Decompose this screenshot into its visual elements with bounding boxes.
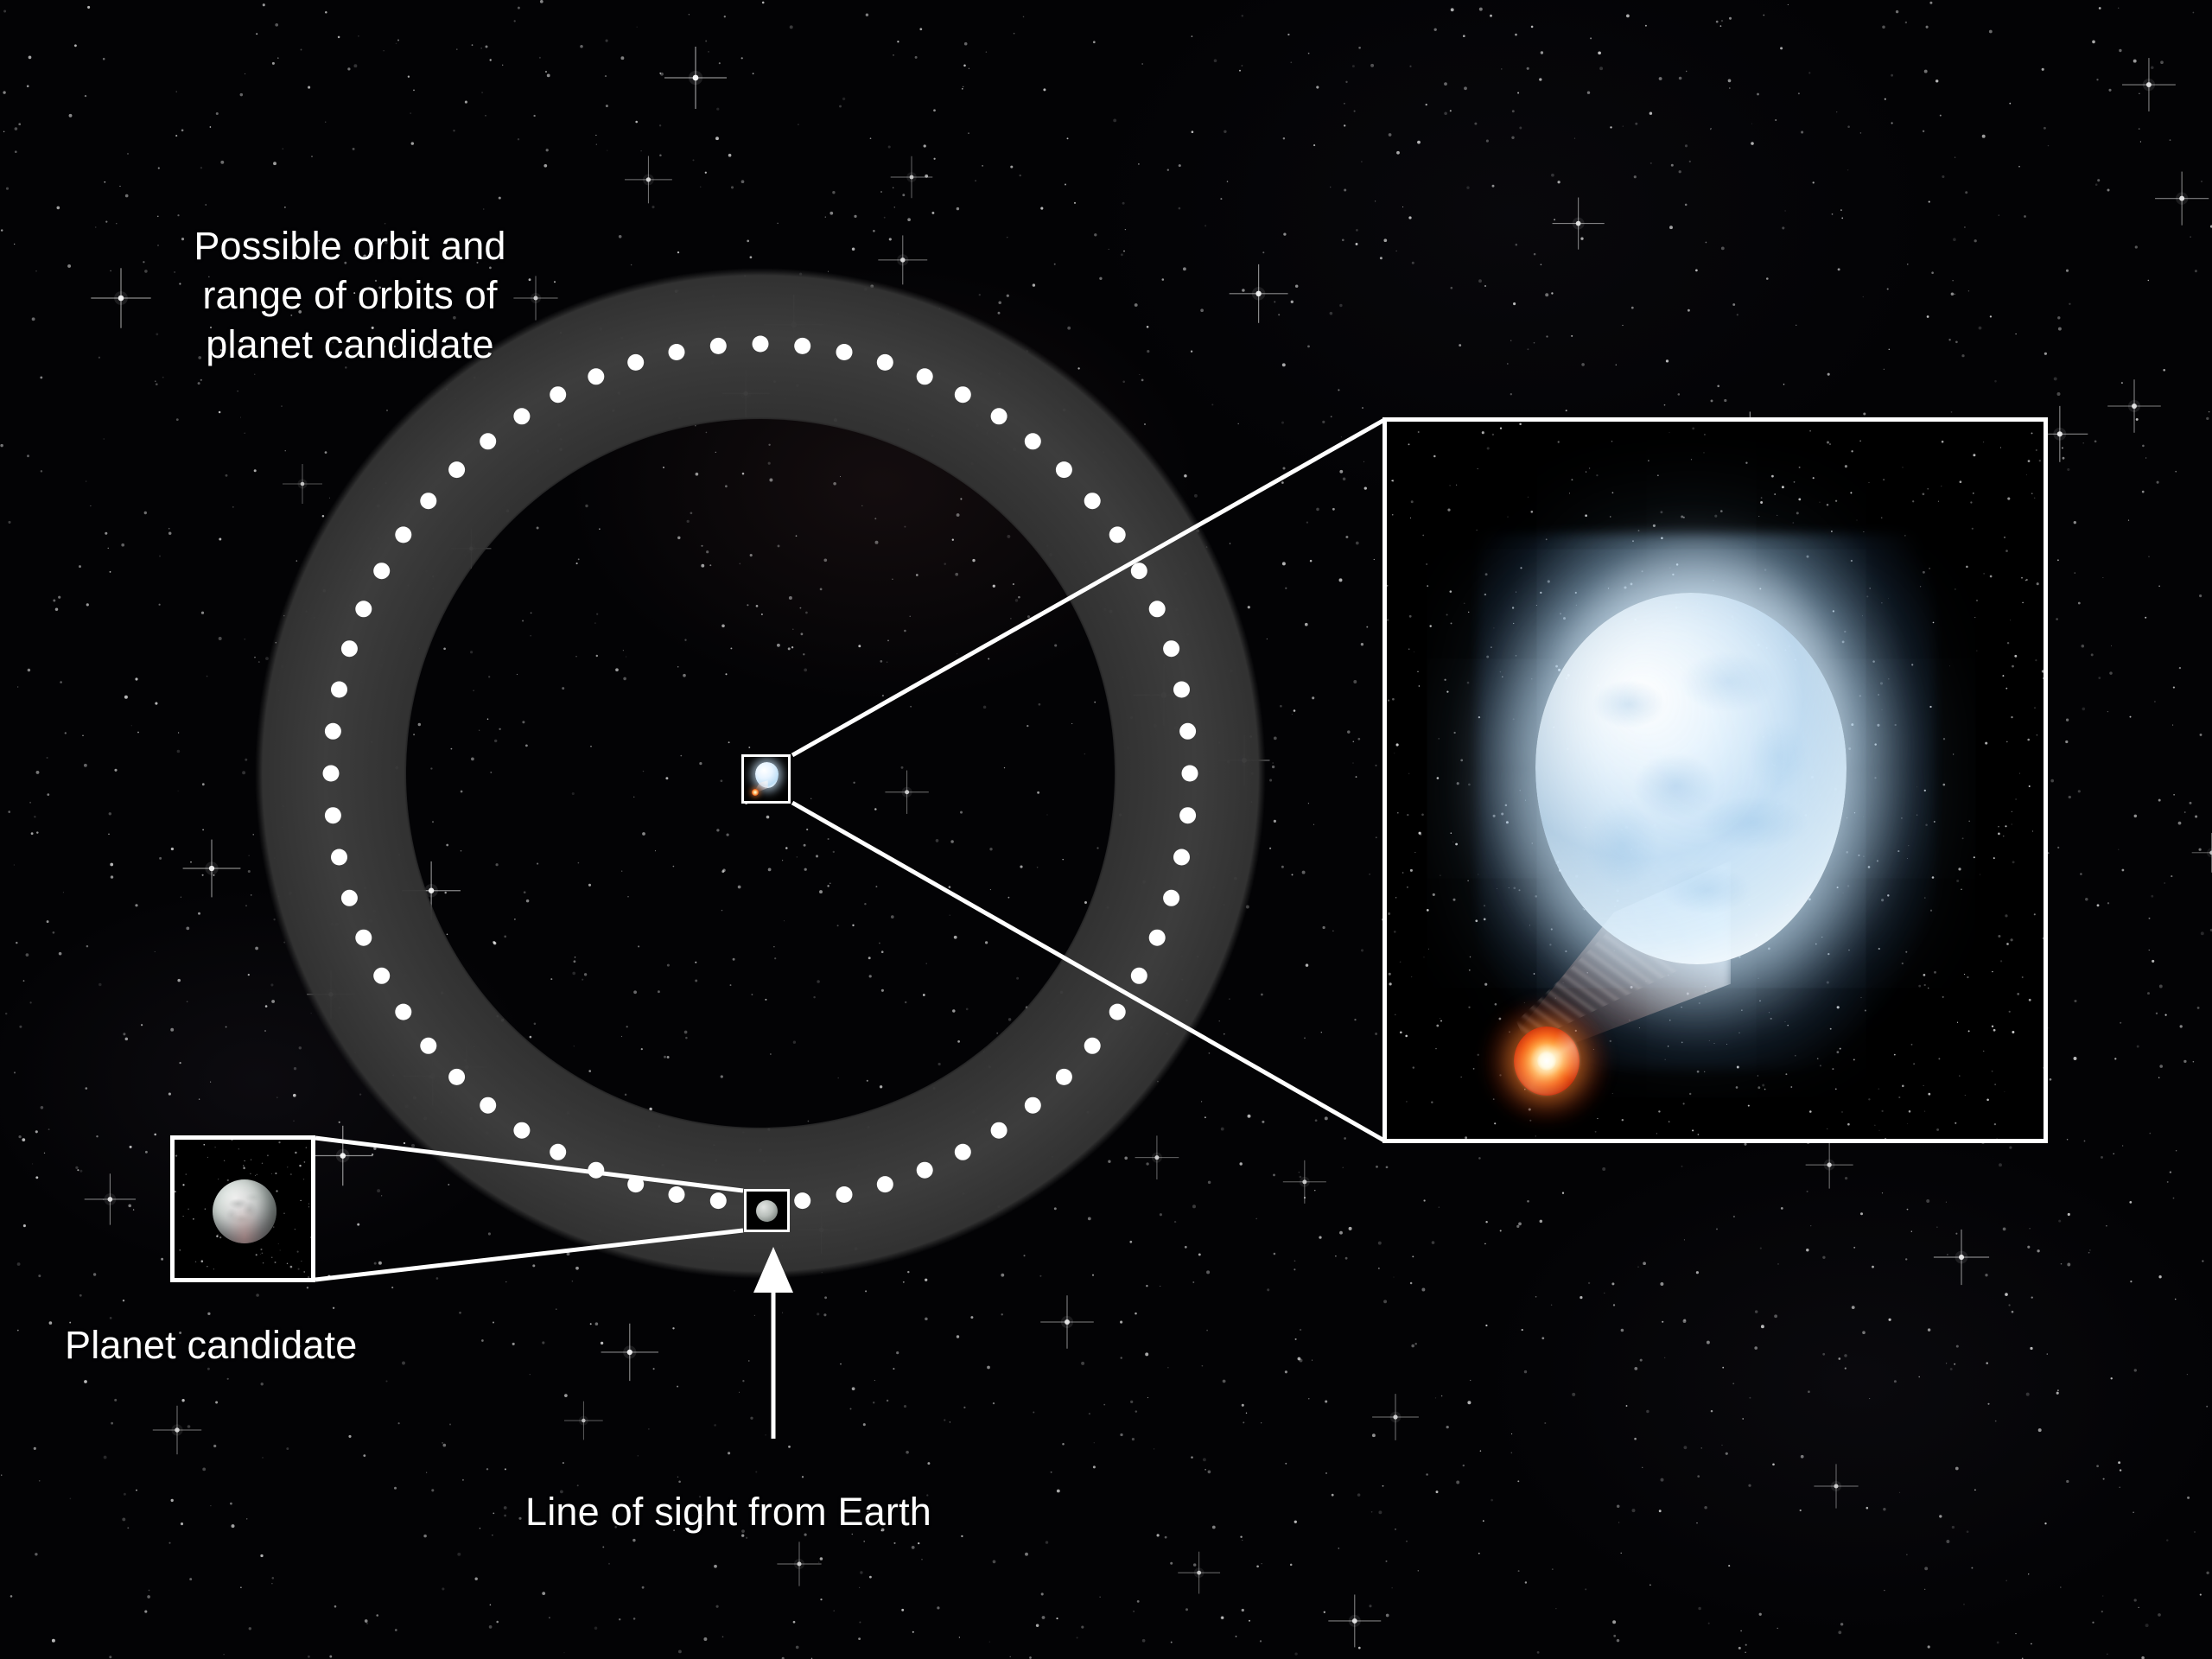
- planet-candidate-label: Planet candidate: [65, 1320, 357, 1370]
- orbit-planet-thumbnail-box[interactable]: [744, 1189, 790, 1232]
- orbit-range-label: Possible orbit and range of orbits of pl…: [151, 221, 549, 369]
- diagram-canvas: Companion star Disk around neutron star …: [0, 0, 2212, 1659]
- planet-limb-tint: [213, 1179, 276, 1243]
- line-of-sight-label: Line of sight from Earth: [525, 1487, 931, 1536]
- planet-thumb-icon: [756, 1200, 778, 1222]
- accretion-disk-thumb-icon: [752, 789, 759, 796]
- central-binary-thumbnail-box[interactable]: [741, 754, 791, 804]
- planet-candidate-inset-box[interactable]: [170, 1135, 315, 1282]
- planet-icon: [213, 1179, 276, 1243]
- compact-object-core: [1537, 1052, 1556, 1071]
- accretion-disk-icon: [1514, 1027, 1580, 1096]
- binary-detail-inset-panel[interactable]: Companion star Disk around neutron star …: [1382, 417, 2048, 1143]
